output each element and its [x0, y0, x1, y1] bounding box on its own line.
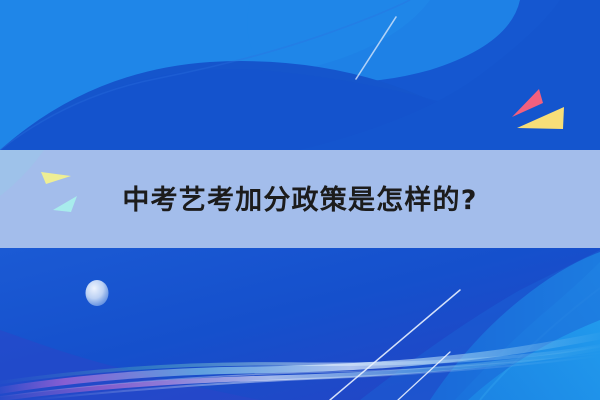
title-band-background: [0, 150, 600, 248]
bottom-section: [0, 248, 600, 400]
background-artwork: [0, 0, 600, 400]
top-section: [0, 0, 600, 150]
title-band-fill: [0, 150, 600, 248]
banner-canvas: 中考艺考加分政策是怎样的?: [0, 0, 600, 400]
bubble-icon: [86, 280, 109, 306]
